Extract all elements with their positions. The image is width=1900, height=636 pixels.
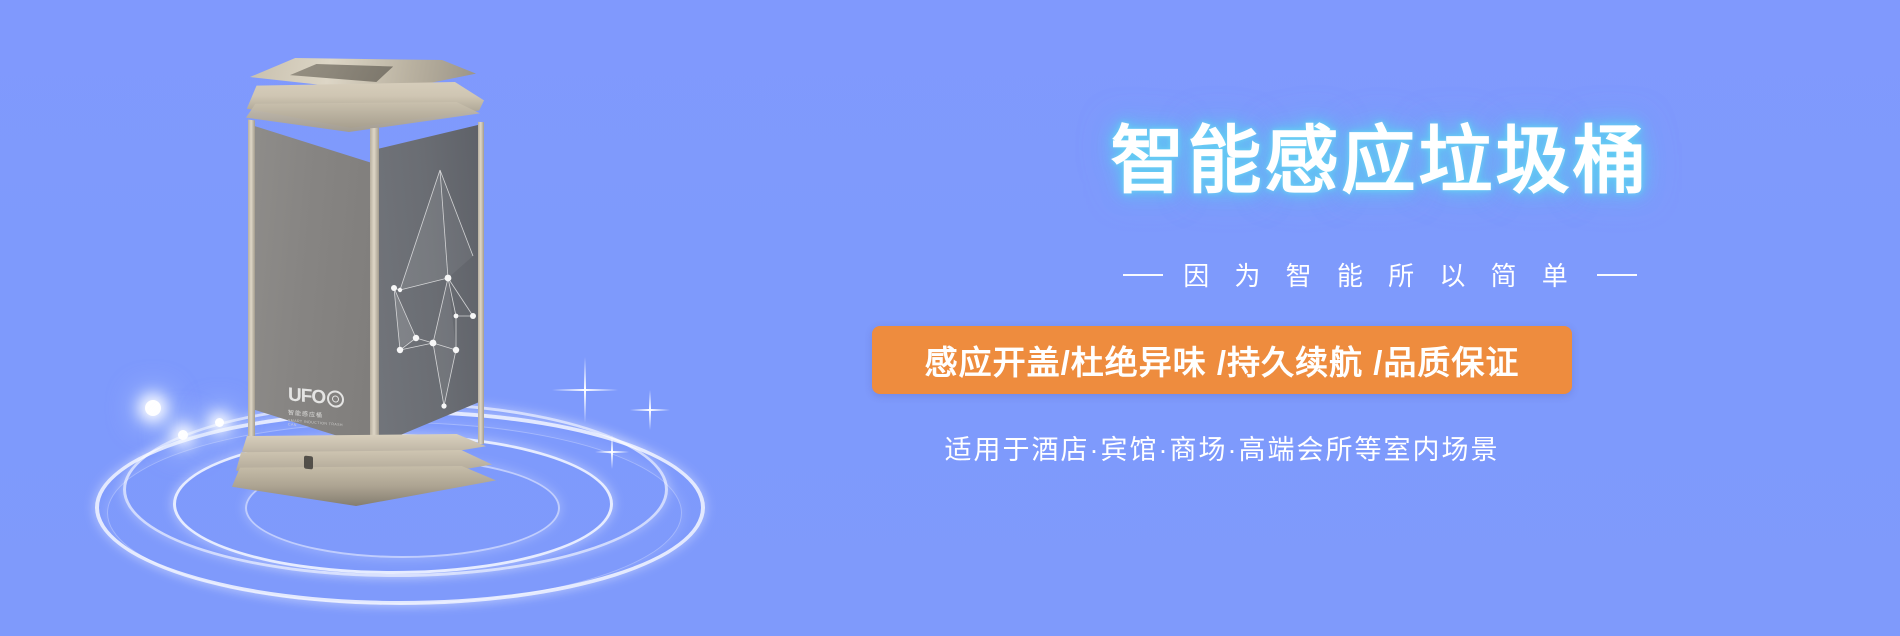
ufo-brand-logo: UFO 智能感应桶 SMART INDUCTION TRASH CAN (288, 385, 348, 432)
bin-top-cornice-lower (246, 102, 480, 132)
bin-edge-trim-right (478, 122, 484, 444)
bin-edge-trim-center (370, 128, 379, 449)
use-cases-text: 适用于酒店·宾馆·商场·高端会所等室内场景 (872, 428, 1572, 467)
page-title: 智能感应垃圾桶 (860, 124, 1900, 198)
ufo-logo-text: UFO (288, 385, 325, 407)
subtitle-line: 因 为 智 能 所 以 简 单 (860, 256, 1900, 293)
polygon-network-pattern (378, 138, 478, 428)
product-scene: UFO 智能感应桶 SMART INDUCTION TRASH CAN (0, 0, 800, 636)
trash-bin-illustration: UFO 智能感应桶 SMART INDUCTION TRASH CAN (228, 58, 498, 458)
glow-dot-icon (178, 430, 188, 440)
bin-foot-pedal (304, 456, 313, 470)
subtitle-dash-right (1597, 274, 1637, 276)
bin-edge-trim-left (248, 120, 255, 451)
feature-list-text: 感应开盖/杜绝异味 /持久续航 /品质保证 (925, 336, 1520, 384)
glow-dot-icon (145, 400, 161, 416)
subtitle-text: 因 为 智 能 所 以 简 单 (1183, 256, 1577, 293)
product-promo-banner: UFO 智能感应桶 SMART INDUCTION TRASH CAN 智能感应… (0, 0, 1900, 636)
marketing-copy-block: 智能感应垃圾桶 因 为 智 能 所 以 简 单 感应开盖/杜绝异味 /持久续航 … (860, 0, 1900, 636)
subtitle-dash-left (1123, 274, 1163, 276)
glow-dot-icon (215, 418, 224, 427)
feature-highlight-ribbon: 感应开盖/杜绝异味 /持久续航 /品质保证 (872, 326, 1572, 394)
ufo-logo-ring-icon (327, 390, 344, 408)
